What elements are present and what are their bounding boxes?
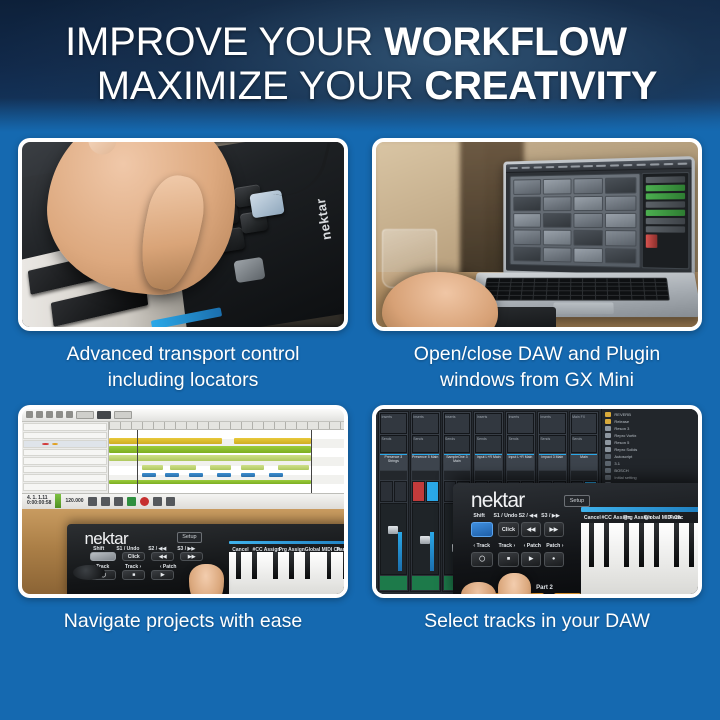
feature-grid: nektar Advanced transport control includ… (0, 138, 720, 634)
pan-control[interactable] (380, 471, 407, 480)
track-row (23, 449, 107, 457)
label-shift: Shift (473, 513, 485, 519)
label-s2-rew: S2 / ◀◀ (148, 546, 166, 552)
channel-name: Input L+R Main (507, 454, 534, 470)
track-row (23, 474, 107, 482)
control-knob[interactable] (73, 565, 105, 580)
laptop-trackpad (553, 302, 613, 314)
track-row (23, 440, 107, 448)
locator-marker[interactable] (311, 430, 312, 492)
play-button[interactable]: ▶ (521, 552, 541, 567)
caption-line-1: Open/close DAW and Plugin (372, 341, 702, 367)
photo-transport-control: nektar (22, 142, 344, 327)
label-next-patch: Patch › (546, 543, 563, 549)
midi-clip (189, 473, 203, 477)
file-icon (605, 475, 611, 480)
midi-clip (241, 473, 255, 477)
shift-button[interactable] (90, 552, 116, 562)
setup-button[interactable]: Setup (177, 532, 201, 543)
caption-select-tracks: Select tracks in your DAW (372, 598, 702, 634)
key-label-panic: Panic (669, 515, 683, 521)
audio-clip (234, 438, 312, 444)
midi-clip (278, 465, 309, 470)
nektar-keyboard: nektar Setup Shift S1 / Undo S2 / ◀◀ S3 … (67, 524, 344, 594)
metronome-button[interactable] (166, 497, 175, 506)
browser-item[interactable]: Repro Vortix (605, 433, 695, 438)
pan-control[interactable] (444, 471, 471, 480)
midi-clip (170, 465, 196, 470)
play-button[interactable] (127, 497, 136, 506)
daw-body (22, 422, 344, 493)
file-icon (605, 468, 611, 473)
browser-item-label: Reson 3 (614, 426, 629, 431)
sends-slot[interactable]: Sends (412, 435, 439, 453)
channel-name: Main (571, 454, 598, 470)
label-s1-undo: S1 / Undo (493, 513, 517, 519)
headline-line-2-normal: MAXIMIZE YOUR (97, 64, 425, 108)
daw-menu-bar (506, 159, 692, 173)
audio-clip (109, 480, 311, 484)
label-s3-ff: S3 / ▶▶ (541, 513, 560, 519)
caption-line-2: windows from GX Mini (372, 367, 702, 393)
caption-navigate-projects: Navigate projects with ease (18, 598, 348, 634)
inserts-slot[interactable]: Inserts (539, 413, 566, 434)
sends-slot[interactable]: Sends (571, 435, 598, 453)
folder-icon (605, 412, 611, 417)
record-button[interactable] (140, 497, 149, 506)
sends-slot[interactable]: Sends (539, 435, 566, 453)
pan-control[interactable] (507, 471, 534, 480)
channel-name: Input L+R Main (475, 454, 502, 470)
playhead[interactable] (137, 430, 138, 492)
channel-output (380, 576, 407, 590)
transport-bar: 4. 1. 1.110:00:00:58 120.000 (22, 493, 344, 509)
feature-card-select-tracks: Inserts Sends Presence 3 Strings (372, 405, 702, 634)
fingernail (85, 142, 118, 158)
channel-buttons[interactable] (380, 481, 407, 502)
browser-item[interactable]: Repro Solids (605, 447, 695, 452)
laptop-lid (504, 156, 696, 278)
click-button[interactable]: Click (498, 522, 518, 537)
channel-output (412, 576, 439, 590)
blue-accent-strip (229, 541, 344, 544)
browser-item[interactable]: 3.1 (605, 461, 695, 466)
browser-item-label: REVERB (614, 412, 630, 417)
caption-transport-control: Advanced transport control including loc… (18, 331, 348, 393)
midi-clip (142, 473, 156, 477)
folder-icon (605, 454, 611, 459)
play-button[interactable]: ▶ (151, 570, 174, 580)
inserts-slot[interactable]: Inserts (380, 413, 407, 434)
photo-card: nektar (18, 138, 348, 331)
browser-item-label: Repro Solids (614, 447, 637, 452)
label-prev-track: ‹ Track (473, 543, 490, 549)
loop-button[interactable] (153, 497, 162, 506)
audio-clip (109, 446, 311, 453)
folder-icon (605, 461, 611, 466)
track-row (23, 423, 107, 431)
timeline-ruler (109, 422, 344, 431)
nektar-keyboard-overlay: nektar Setup Shift S1 / Undo S2 / ◀◀ S3 … (453, 483, 698, 594)
stop-button[interactable]: ■ (498, 552, 518, 567)
rewind-button[interactable]: ◀◀ (151, 552, 174, 562)
shift-button[interactable] (471, 522, 494, 537)
headline-line-2: MAXIMIZE YOUR CREATIVITY (0, 64, 720, 108)
midi-clip (269, 473, 283, 477)
photo-card: 4. 1. 1.110:00:00:58 120.000 (18, 405, 348, 598)
browser-item-label: Release (614, 419, 629, 424)
feature-card-navigate-projects: 4. 1. 1.110:00:00:58 120.000 (18, 405, 348, 634)
daw-toolbar (22, 409, 344, 422)
photo-select-tracks: Inserts Sends Presence 3 Strings (376, 409, 698, 594)
tempo-display: 120.000 (65, 499, 83, 505)
browser-item-label: BOSCH (614, 468, 628, 473)
track-row (23, 457, 107, 465)
inserts-slot[interactable]: Inserts (412, 413, 439, 434)
inserts-slot[interactable]: Inserts (444, 413, 471, 434)
feature-row-bottom: 4. 1. 1.110:00:00:58 120.000 (0, 405, 720, 634)
channel-name: Impact 3 Main (539, 454, 566, 470)
headline-line-1: IMPROVE YOUR WORKFLOW (0, 20, 720, 64)
label-s3-ff: S3 / ▶▶ (177, 546, 195, 552)
headline: IMPROVE YOUR WORKFLOW MAXIMIZE YOUR CREA… (0, 20, 720, 108)
label-prev-patch: ‹ Patch (524, 543, 541, 549)
folder-icon (605, 419, 611, 424)
caption-line-2: including locators (18, 367, 348, 393)
pan-control[interactable] (571, 471, 598, 480)
browser-item[interactable]: Initial setting (605, 475, 695, 480)
channel-name: SampleOne 3 Main (444, 454, 471, 470)
browser-item[interactable]: Reson 5 (605, 440, 695, 445)
midi-clip (241, 465, 265, 470)
caption-line-1: Navigate projects with ease (18, 608, 348, 634)
browser-item[interactable]: REVERB (605, 412, 695, 417)
label-next-track: Track › (498, 543, 515, 549)
browser-item[interactable]: Autoscript (605, 454, 695, 459)
key-bed[interactable] (581, 523, 698, 594)
photo-daw-plugin-windows (376, 142, 698, 327)
clip-lanes (109, 430, 344, 492)
mixer-channel[interactable]: Inserts Sends Presence 3 Strings (378, 411, 409, 592)
photo-card (372, 138, 702, 331)
track-row (23, 432, 107, 440)
caption-daw-plugin-windows: Open/close DAW and Plugin windows from G… (372, 331, 702, 393)
caption-line-1: Advanced transport control (18, 341, 348, 367)
track-row (23, 483, 107, 491)
stop-button[interactable] (114, 497, 123, 506)
setup-button (233, 256, 265, 282)
sends-slot[interactable]: Sends (507, 435, 534, 453)
level-meter (55, 494, 61, 508)
label-shift: Shift (93, 546, 104, 552)
feature-row-top: nektar Advanced transport control includ… (0, 138, 720, 393)
track-list (22, 422, 109, 493)
arrange-canvas (109, 422, 344, 493)
midi-clip (165, 473, 179, 477)
part-label: Part 2 (536, 585, 553, 591)
file-icon (605, 426, 611, 431)
sends-slot[interactable]: Sends (380, 435, 407, 453)
daw-arrange-window: 4. 1. 1.110:00:00:58 120.000 (22, 409, 344, 509)
midi-clip (217, 473, 231, 477)
audio-clip (109, 455, 311, 461)
drum-pad[interactable] (554, 593, 582, 594)
midi-clip (142, 465, 163, 470)
audio-clip (109, 438, 222, 444)
headline-line-1-bold: WORKFLOW (384, 20, 627, 64)
headline-line-2-bold: CREATIVITY (424, 64, 657, 108)
label-s2-rew: S2 / ◀◀ (519, 513, 538, 519)
file-icon (605, 433, 611, 438)
loop-button[interactable]: ◯ (471, 552, 494, 567)
nektar-logo: nektar (471, 489, 525, 513)
plugin-window (510, 173, 641, 268)
record-button[interactable]: ● (544, 552, 564, 567)
promo-page: IMPROVE YOUR WORKFLOW MAXIMIZE YOUR CREA… (0, 0, 720, 720)
browser-item[interactable]: Release (605, 419, 695, 424)
setup-button[interactable]: Setup (564, 495, 590, 507)
channel-fader[interactable] (380, 503, 407, 575)
rewind-button[interactable] (88, 497, 97, 506)
rewind-button[interactable]: ◀◀ (521, 522, 541, 537)
midi-clip (210, 465, 231, 470)
file-icon (605, 440, 611, 445)
browser-item-label: 3.1 (614, 461, 620, 466)
master-fx-slot[interactable]: Main FX (571, 413, 598, 434)
channel-buttons[interactable] (412, 481, 439, 502)
forward-button[interactable]: ▶▶ (180, 552, 203, 562)
browser-item-label: Reson 5 (614, 440, 629, 445)
channel-name: Presence 3 Strings (380, 454, 407, 470)
feature-card-transport-control: nektar Advanced transport control includ… (18, 138, 348, 393)
pan-control[interactable] (412, 471, 439, 480)
forward-button[interactable] (101, 497, 110, 506)
pressing-finger (498, 573, 531, 594)
blue-accent-strip (581, 507, 698, 512)
position-display: 4. 1. 1.110:00:00:58 (27, 496, 51, 507)
channel-name: Presence 5 Main (412, 454, 439, 470)
forward-button[interactable]: ▶▶ (544, 522, 564, 537)
track-row (23, 466, 107, 474)
click-button[interactable]: Click (122, 552, 145, 562)
stop-button[interactable]: ■ (122, 570, 145, 580)
channel-fader[interactable] (412, 503, 439, 575)
arrangement-panel (642, 172, 690, 269)
headline-line-1-normal: IMPROVE YOUR (65, 20, 384, 64)
browser-item-label: Repro Vortix (614, 433, 636, 438)
mixer-channel[interactable]: Inserts Sends Presence 5 Main (410, 411, 441, 592)
browser-item[interactable]: BOSCH (605, 468, 695, 473)
label-s1-undo: S1 / Undo (116, 546, 139, 552)
file-icon (605, 447, 611, 452)
pan-control[interactable] (539, 471, 566, 480)
browser-item-label: Autoscript (614, 454, 632, 459)
pressing-finger (189, 564, 224, 594)
inserts-slot[interactable]: Inserts (507, 413, 534, 434)
photo-navigate-projects: 4. 1. 1.110:00:00:58 120.000 (22, 409, 344, 594)
sends-slot[interactable]: Sends (475, 435, 502, 453)
feature-card-daw-plugin-windows: Open/close DAW and Plugin windows from G… (372, 138, 702, 393)
photo-card: Inserts Sends Presence 3 Strings (372, 405, 702, 598)
key-label-cancel: Cancel (584, 515, 601, 521)
laptop-keyboard (483, 277, 670, 300)
pan-control[interactable] (475, 471, 502, 480)
caption-line-1: Select tracks in your DAW (372, 608, 702, 634)
hand (461, 582, 496, 594)
key-bed[interactable] (229, 552, 344, 594)
laptop-screen (506, 159, 692, 275)
sends-slot[interactable]: Sends (444, 435, 471, 453)
browser-item-label: Initial setting (614, 475, 636, 480)
browser-item[interactable]: Reson 3 (605, 426, 695, 431)
inserts-slot[interactable]: Inserts (475, 413, 502, 434)
